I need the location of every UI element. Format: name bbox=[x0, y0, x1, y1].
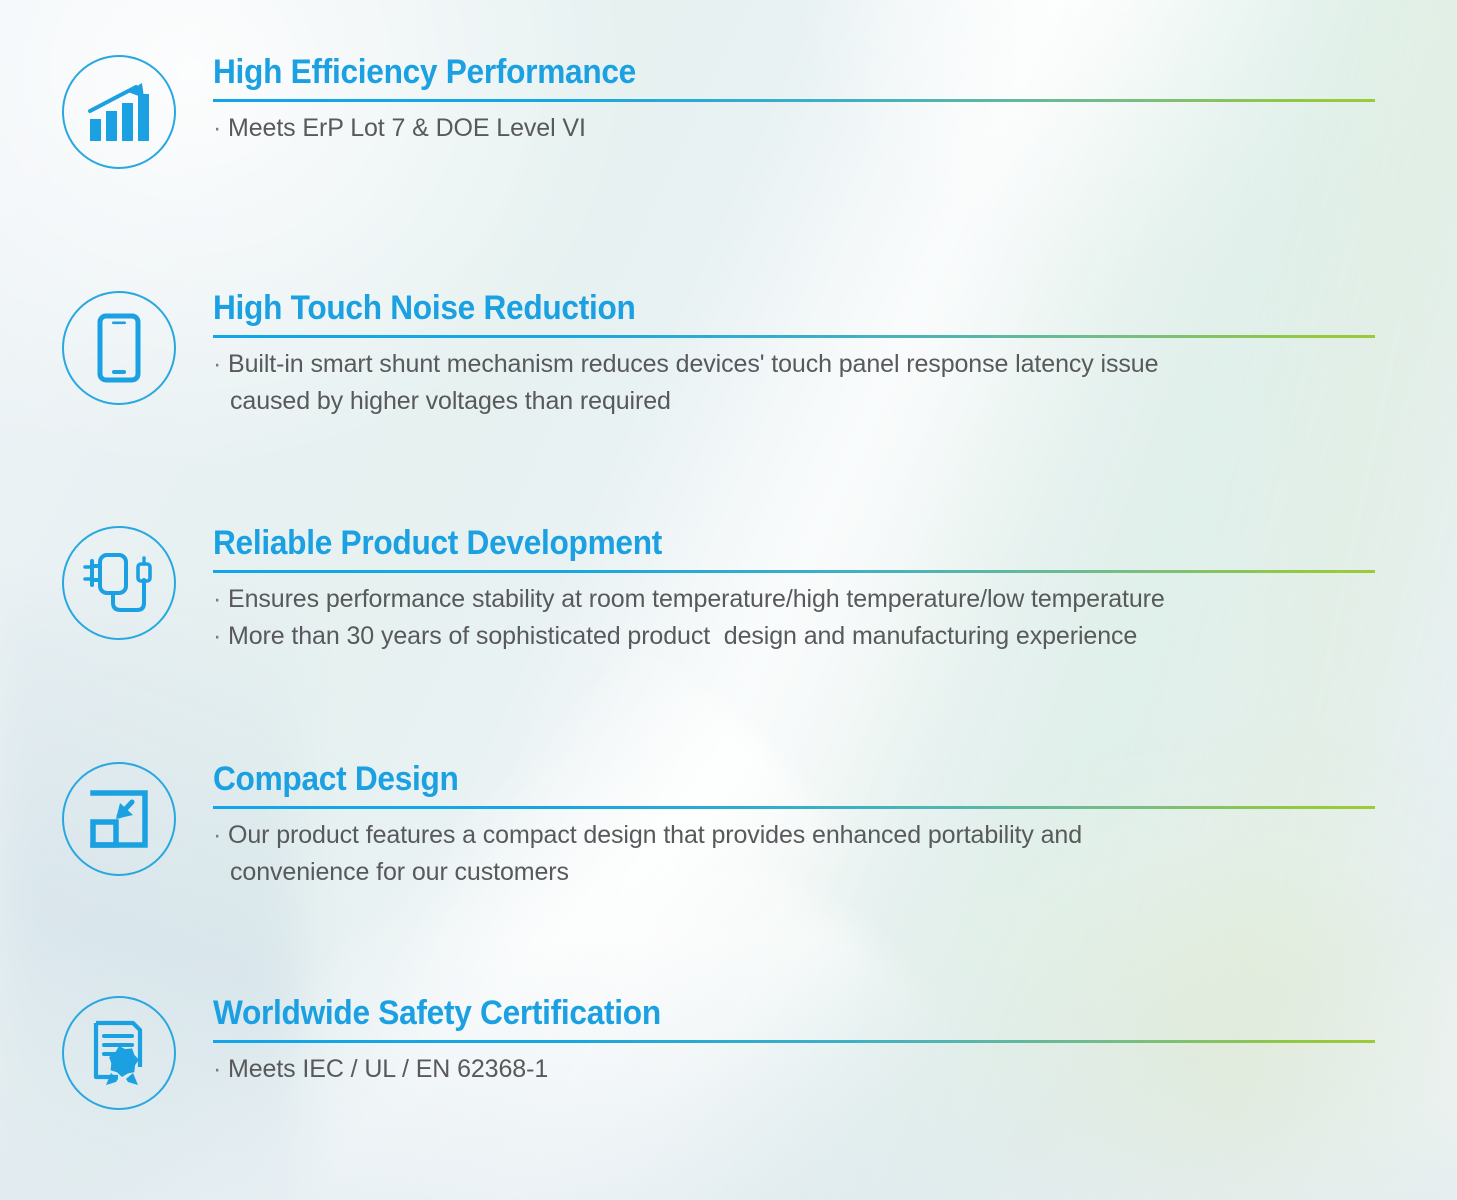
feature-title: High Touch Noise Reduction bbox=[213, 291, 1296, 325]
feature-divider bbox=[213, 99, 1375, 102]
feature-icon-wrap bbox=[62, 996, 176, 1110]
bullet-marker: · bbox=[213, 581, 228, 618]
feature-title: Compact Design bbox=[213, 762, 1296, 796]
bullet-text: Meets ErP Lot 7 & DOE Level VI bbox=[228, 114, 586, 142]
feature-divider bbox=[213, 1040, 1375, 1043]
bullet-line: ·Our product features a compact design t… bbox=[213, 817, 1377, 854]
feature-icon-wrap bbox=[62, 762, 176, 876]
feature-body: Worldwide Safety Certification ·Meets IE… bbox=[213, 996, 1377, 1088]
feature-divider bbox=[213, 806, 1375, 809]
feature-highlights-page: High Efficiency Performance ·Meets ErP L… bbox=[0, 0, 1457, 1200]
bullet-text: caused by higher voltages than required bbox=[230, 387, 671, 415]
bullet-marker: · bbox=[213, 618, 228, 655]
bullet-line: ·More than 30 years of sophisticated pro… bbox=[213, 618, 1377, 655]
bullet-marker: · bbox=[213, 346, 228, 383]
bullet-text: convenience for our customers bbox=[230, 858, 569, 886]
feature-body: High Touch Noise Reduction ·Built-in sma… bbox=[213, 291, 1377, 419]
bullet-marker: · bbox=[213, 110, 228, 147]
bullet-text: Our product features a compact design th… bbox=[228, 821, 1082, 849]
bullet-text: More than 30 years of sophisticated prod… bbox=[228, 622, 1137, 650]
feature-icon-wrap bbox=[62, 526, 176, 640]
feature-bullets: ·Built-in smart shunt mechanism reduces … bbox=[213, 346, 1377, 419]
background-shade-left bbox=[0, 600, 300, 1200]
bullet-line: ·Meets ErP Lot 7 & DOE Level VI bbox=[213, 110, 1377, 147]
bullet-line: ·Built-in smart shunt mechanism reduces … bbox=[213, 346, 1377, 383]
bullet-text: Built-in smart shunt mechanism reduces d… bbox=[228, 350, 1158, 378]
bullet-line-continued: convenience for our customers bbox=[213, 854, 1377, 891]
feature-divider bbox=[213, 570, 1375, 573]
feature-divider bbox=[213, 335, 1375, 338]
compact-resize-icon bbox=[62, 762, 176, 876]
power-adapter-icon bbox=[62, 526, 176, 640]
feature-title: Reliable Product Development bbox=[213, 526, 1296, 560]
bullet-marker: · bbox=[213, 1051, 228, 1088]
feature-body: Reliable Product Development ·Ensures pe… bbox=[213, 526, 1377, 654]
feature-icon-wrap bbox=[62, 291, 176, 405]
smartphone-icon bbox=[62, 291, 176, 405]
bullet-text: Ensures performance stability at room te… bbox=[228, 585, 1165, 613]
feature-bullets: ·Our product features a compact design t… bbox=[213, 817, 1377, 890]
feature-icon-wrap bbox=[62, 55, 176, 169]
bullet-marker: · bbox=[213, 817, 228, 854]
feature-body: High Efficiency Performance ·Meets ErP L… bbox=[213, 55, 1377, 147]
bullet-text: Meets IEC / UL / EN 62368-1 bbox=[228, 1055, 548, 1083]
feature-bullets: ·Meets ErP Lot 7 & DOE Level VI bbox=[213, 110, 1377, 147]
feature-bullets: ·Ensures performance stability at room t… bbox=[213, 581, 1377, 654]
feature-body: Compact Design ·Our product features a c… bbox=[213, 762, 1377, 890]
bar-chart-growth-icon bbox=[62, 55, 176, 169]
feature-bullets: ·Meets IEC / UL / EN 62368-1 bbox=[213, 1051, 1377, 1088]
bullet-line: ·Ensures performance stability at room t… bbox=[213, 581, 1377, 618]
bullet-line: ·Meets IEC / UL / EN 62368-1 bbox=[213, 1051, 1377, 1088]
bullet-line-continued: caused by higher voltages than required bbox=[213, 383, 1377, 420]
certificate-award-icon bbox=[62, 996, 176, 1110]
feature-title: High Efficiency Performance bbox=[213, 55, 1296, 89]
feature-title: Worldwide Safety Certification bbox=[213, 996, 1296, 1030]
